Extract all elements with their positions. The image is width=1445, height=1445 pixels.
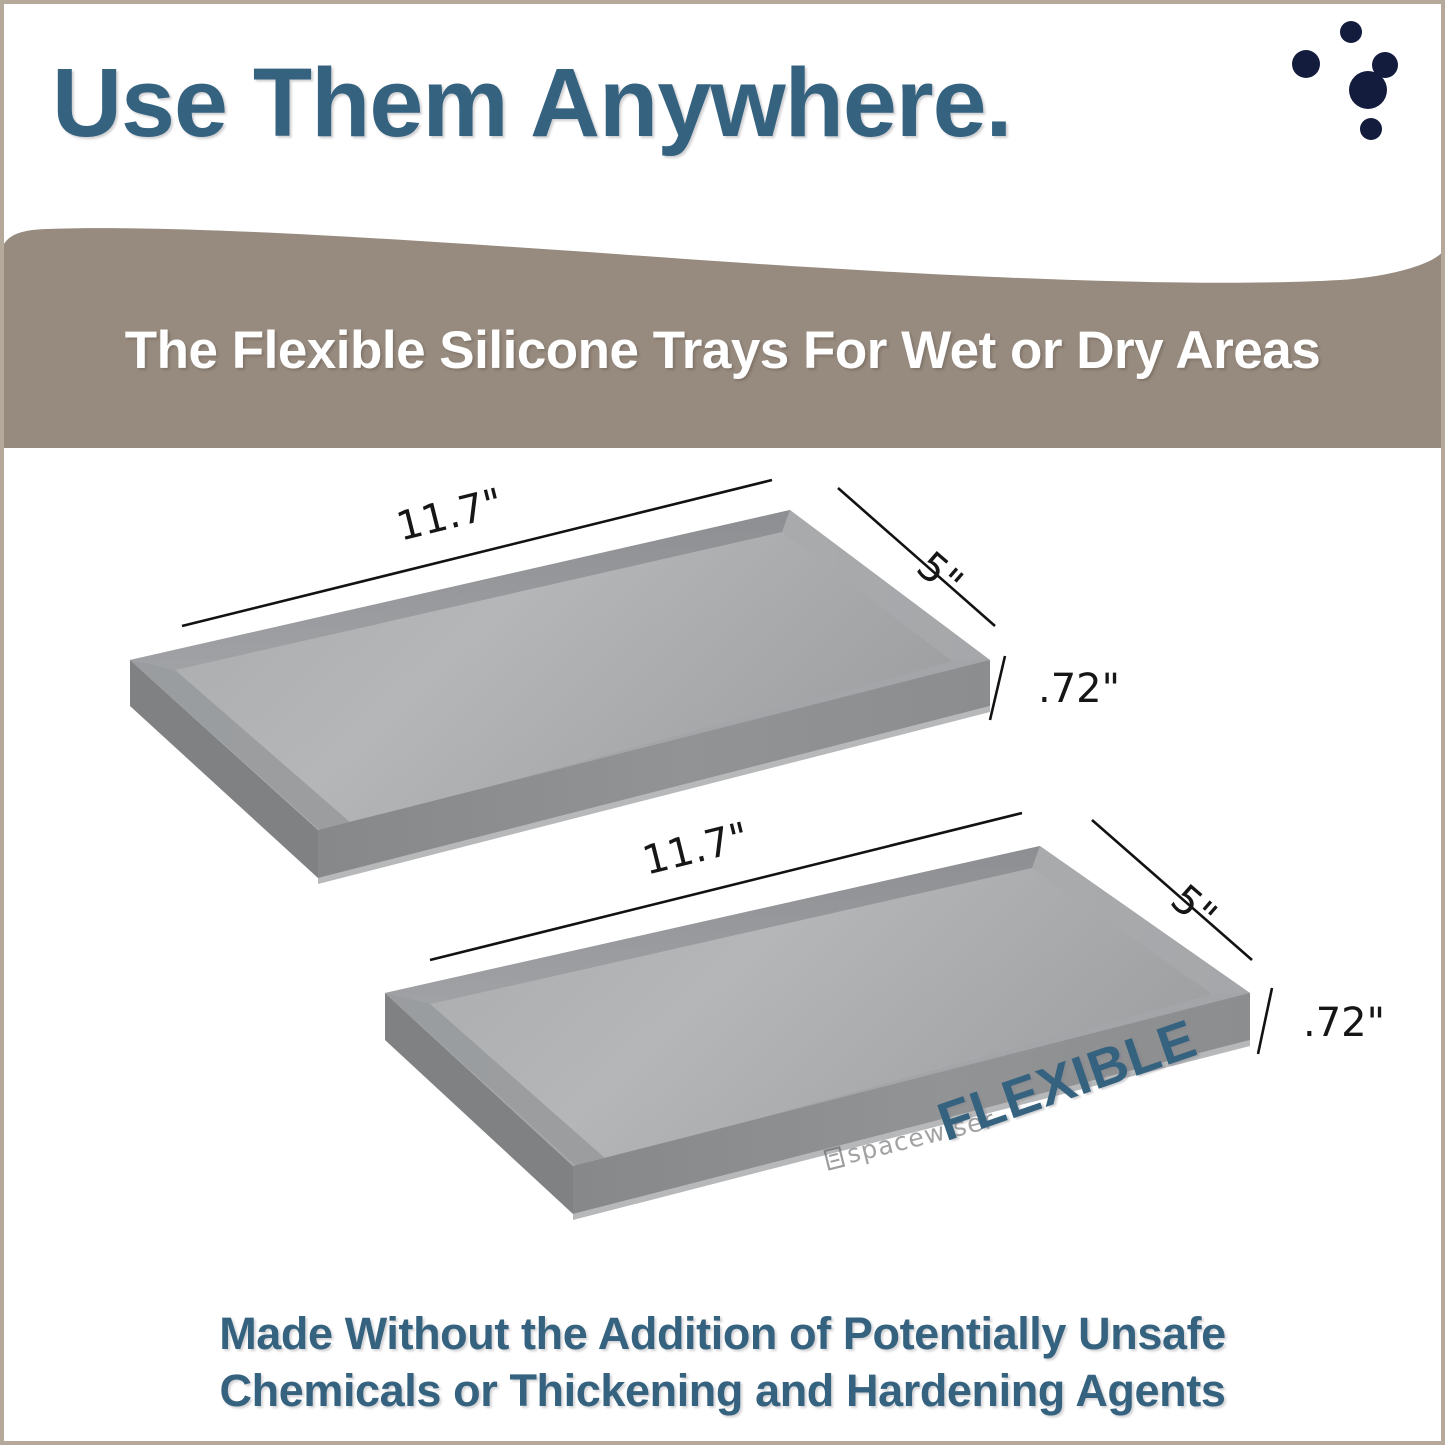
footer-line-1: Made Without the Addition of Potentially… [0, 1305, 1445, 1362]
tray-top-shape [130, 510, 990, 884]
decor-dot-1 [1340, 21, 1362, 43]
decorative-dot-cluster [1288, 22, 1438, 172]
product-illustration: spacewiser spacewiser 11.7" 5" .72" 11.7… [0, 448, 1445, 1308]
tray-bottom-height-label: .72" [1303, 1000, 1385, 1046]
footer-line-2: Chemicals or Thickening and Hardening Ag… [0, 1362, 1445, 1419]
decor-dot-2 [1292, 50, 1320, 78]
decor-dot-4 [1349, 71, 1387, 109]
decor-dot-5 [1360, 118, 1382, 140]
product-marketing-image: Use Them Anywhere. The Flexible Silicone… [0, 0, 1445, 1445]
footer-claim: Made Without the Addition of Potentially… [0, 1305, 1445, 1419]
banner-subtitle: The Flexible Silicone Trays For Wet or D… [125, 320, 1320, 381]
banner-text-wrap: The Flexible Silicone Trays For Wet or D… [0, 216, 1445, 448]
page-title: Use Them Anywhere. [52, 52, 1011, 154]
tray-top-height-label: .72" [1038, 666, 1120, 712]
